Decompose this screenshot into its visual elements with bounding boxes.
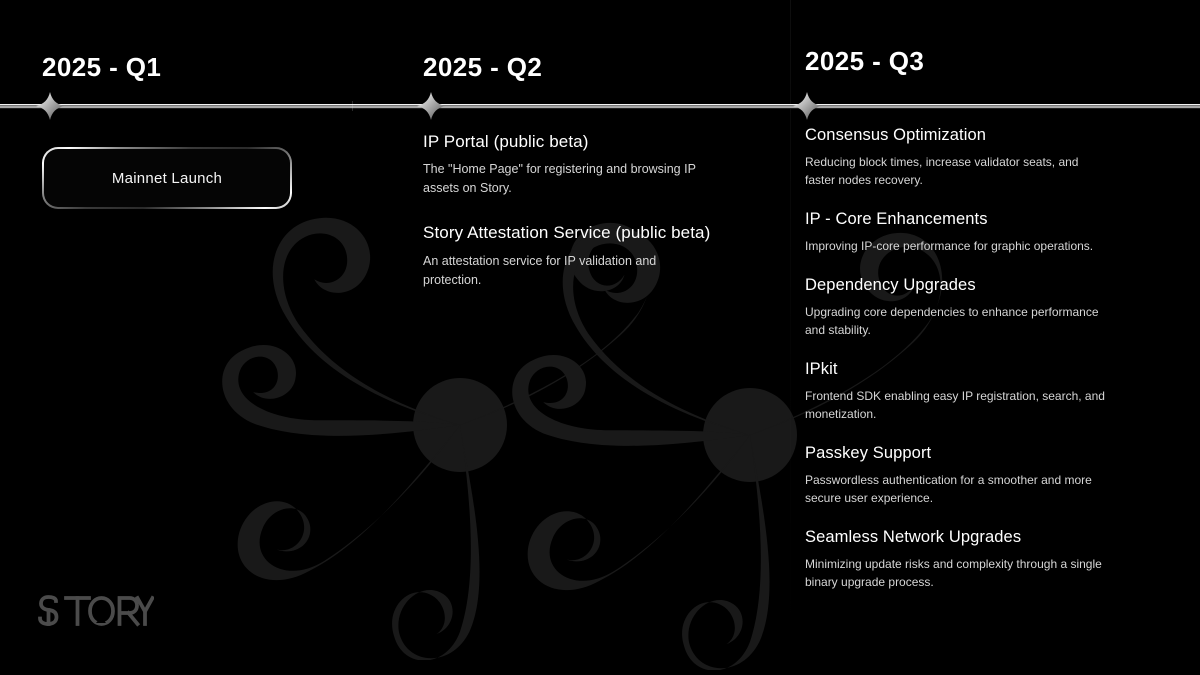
roadmap-item-title: Dependency Upgrades <box>805 275 1160 296</box>
story-wordmark-logo <box>38 595 154 629</box>
roadmap-item-title: IPkit <box>805 359 1160 380</box>
mainnet-launch-card[interactable]: Mainnet Launch <box>42 147 292 209</box>
roadmap-item-desc: An attestation service for IP validation… <box>423 252 713 290</box>
quarter-title-q3: 2025 - Q3 <box>805 46 924 77</box>
roadmap-item[interactable]: IP Portal (public beta) The "Home Page" … <box>423 131 773 198</box>
roadmap-item[interactable]: Seamless Network Upgrades Minimizing upd… <box>805 527 1160 591</box>
quarter-body-q1: Mainnet Launch <box>42 131 342 209</box>
roadmap-slide: 2025 - Q1 Mainnet Launch 2025 - Q2 IP Po… <box>0 0 1200 675</box>
roadmap-item[interactable]: Passkey Support Passwordless authenticat… <box>805 443 1160 507</box>
roadmap-item-title: IP - Core Enhancements <box>805 209 1160 230</box>
roadmap-item-desc: Minimizing update risks and complexity t… <box>805 555 1105 591</box>
roadmap-item-desc: The "Home Page" for registering and brow… <box>423 160 713 198</box>
timeline-bar <box>0 104 1200 109</box>
roadmap-item-desc: Improving IP-core performance for graphi… <box>805 237 1105 255</box>
roadmap-item-desc: Upgrading core dependencies to enhance p… <box>805 303 1105 339</box>
roadmap-item-desc: Passwordless authentication for a smooth… <box>805 471 1105 507</box>
quarter-title-q1: 2025 - Q1 <box>42 52 161 83</box>
roadmap-item-title: Story Attestation Service (public beta) <box>423 222 773 243</box>
roadmap-item[interactable]: Consensus Optimization Reducing block ti… <box>805 125 1160 189</box>
roadmap-item-desc: Reducing block times, increase validator… <box>805 153 1105 189</box>
roadmap-item-title: Seamless Network Upgrades <box>805 527 1160 548</box>
roadmap-item-title: Passkey Support <box>805 443 1160 464</box>
timeline-node-q1[interactable] <box>36 92 64 120</box>
timeline-tick <box>352 101 353 111</box>
roadmap-item-title: IP Portal (public beta) <box>423 131 773 152</box>
roadmap-item-title: Consensus Optimization <box>805 125 1160 146</box>
timeline-node-q2[interactable] <box>417 92 445 120</box>
quarter-body-q2: IP Portal (public beta) The "Home Page" … <box>423 131 773 314</box>
mainnet-launch-card-inner: Mainnet Launch <box>44 149 290 207</box>
quarter-title-q2: 2025 - Q2 <box>423 52 542 83</box>
timeline-node-q3[interactable] <box>793 92 821 120</box>
roadmap-item[interactable]: Dependency Upgrades Upgrading core depen… <box>805 275 1160 339</box>
roadmap-item-desc: Frontend SDK enabling easy IP registrati… <box>805 387 1105 423</box>
roadmap-item[interactable]: Story Attestation Service (public beta) … <box>423 222 773 289</box>
mainnet-launch-label: Mainnet Launch <box>112 170 222 187</box>
roadmap-item[interactable]: IP - Core Enhancements Improving IP-core… <box>805 209 1160 255</box>
quarter-body-q3: Consensus Optimization Reducing block ti… <box>805 125 1160 611</box>
timeline-rail <box>0 101 1200 111</box>
roadmap-item[interactable]: IPkit Frontend SDK enabling easy IP regi… <box>805 359 1160 423</box>
